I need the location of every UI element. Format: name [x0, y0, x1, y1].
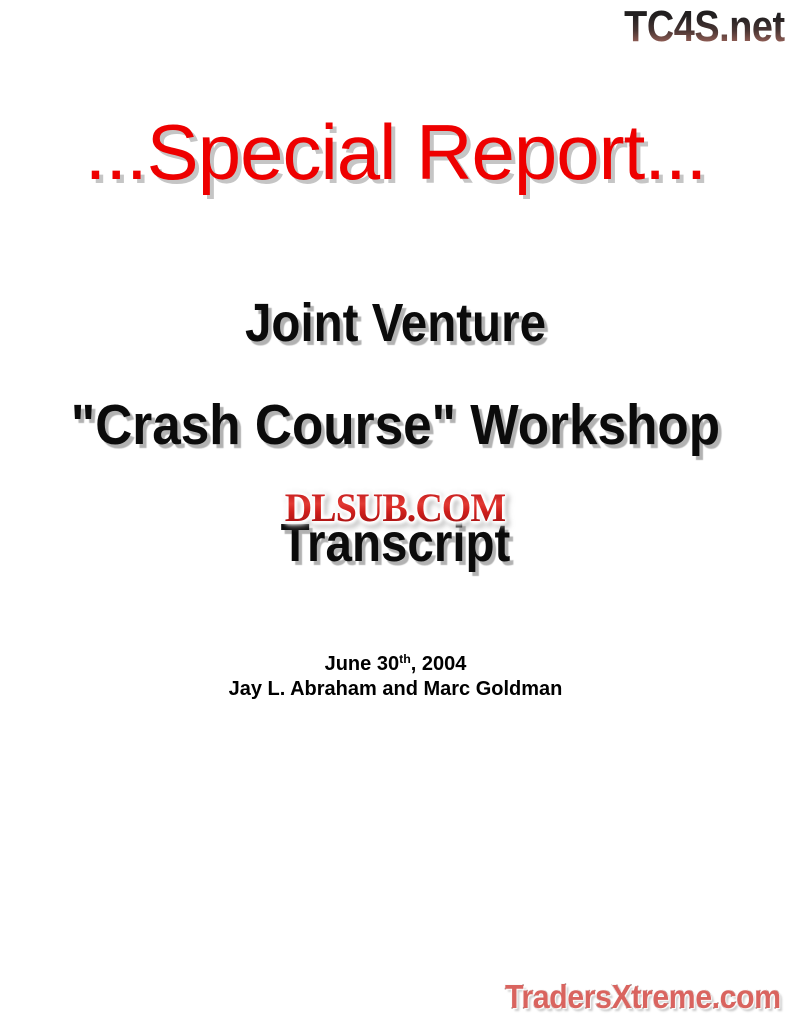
publication-date-ordinal-suffix: th — [399, 652, 411, 666]
brand-logo-tc4s[interactable]: TC4S.net — [624, 4, 785, 50]
byline-block: June 30th, 2004 Jay L. Abraham and Marc … — [0, 652, 791, 702]
publication-date: June 30th, 2004 — [0, 652, 791, 677]
publication-date-year: , 2004 — [411, 653, 467, 675]
heading-crash-course-workshop: "Crash Course" Workshop — [40, 392, 752, 458]
publication-date-daymonth: June 30 — [325, 653, 399, 675]
page-title-special-report: ...Special Report... — [0, 108, 791, 196]
authors-line: Jay L. Abraham and Marc Goldman — [0, 677, 791, 702]
heading-joint-venture: Joint Venture — [47, 292, 743, 354]
heading-transcript: Transcript — [47, 512, 743, 574]
footer-logo-tradersxtreme[interactable]: TradersXtreme.com — [505, 978, 781, 1016]
document-page: TC4S.net ...Special Report... Joint Vent… — [0, 0, 791, 1024]
